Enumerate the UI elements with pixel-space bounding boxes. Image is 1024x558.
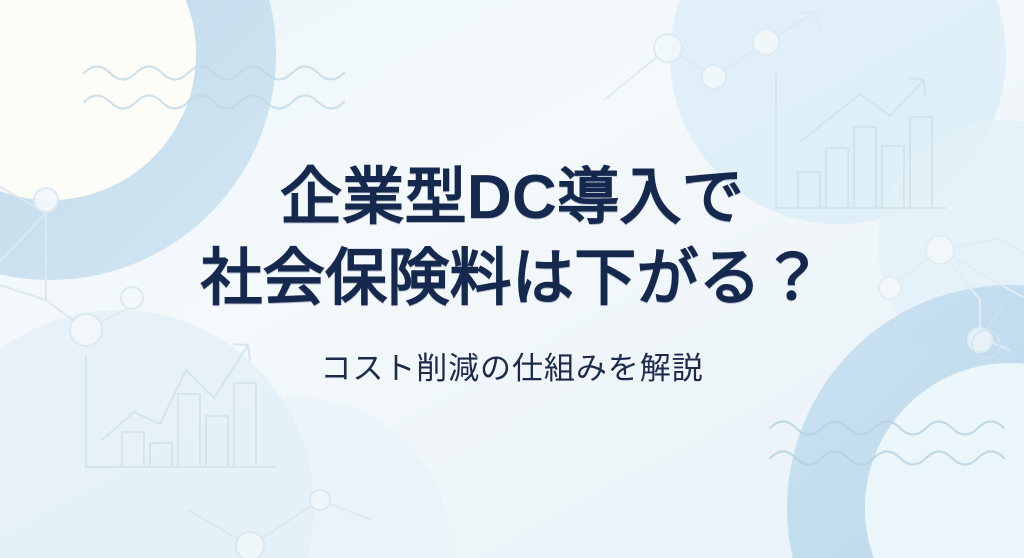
banner-content: 企業型DC導入で 社会保険料は下がる？ コスト削減の仕組みを解説 [0, 0, 1024, 558]
page-subtitle: コスト削減の仕組みを解説 [320, 349, 703, 389]
title-line-1: 企業型DC導入で [200, 158, 823, 239]
banner-image: 企業型DC導入で 社会保険料は下がる？ コスト削減の仕組みを解説 [0, 0, 1024, 558]
page-title: 企業型DC導入で 社会保険料は下がる？ [200, 158, 823, 319]
title-line-2: 社会保険料は下がる？ [200, 239, 823, 320]
